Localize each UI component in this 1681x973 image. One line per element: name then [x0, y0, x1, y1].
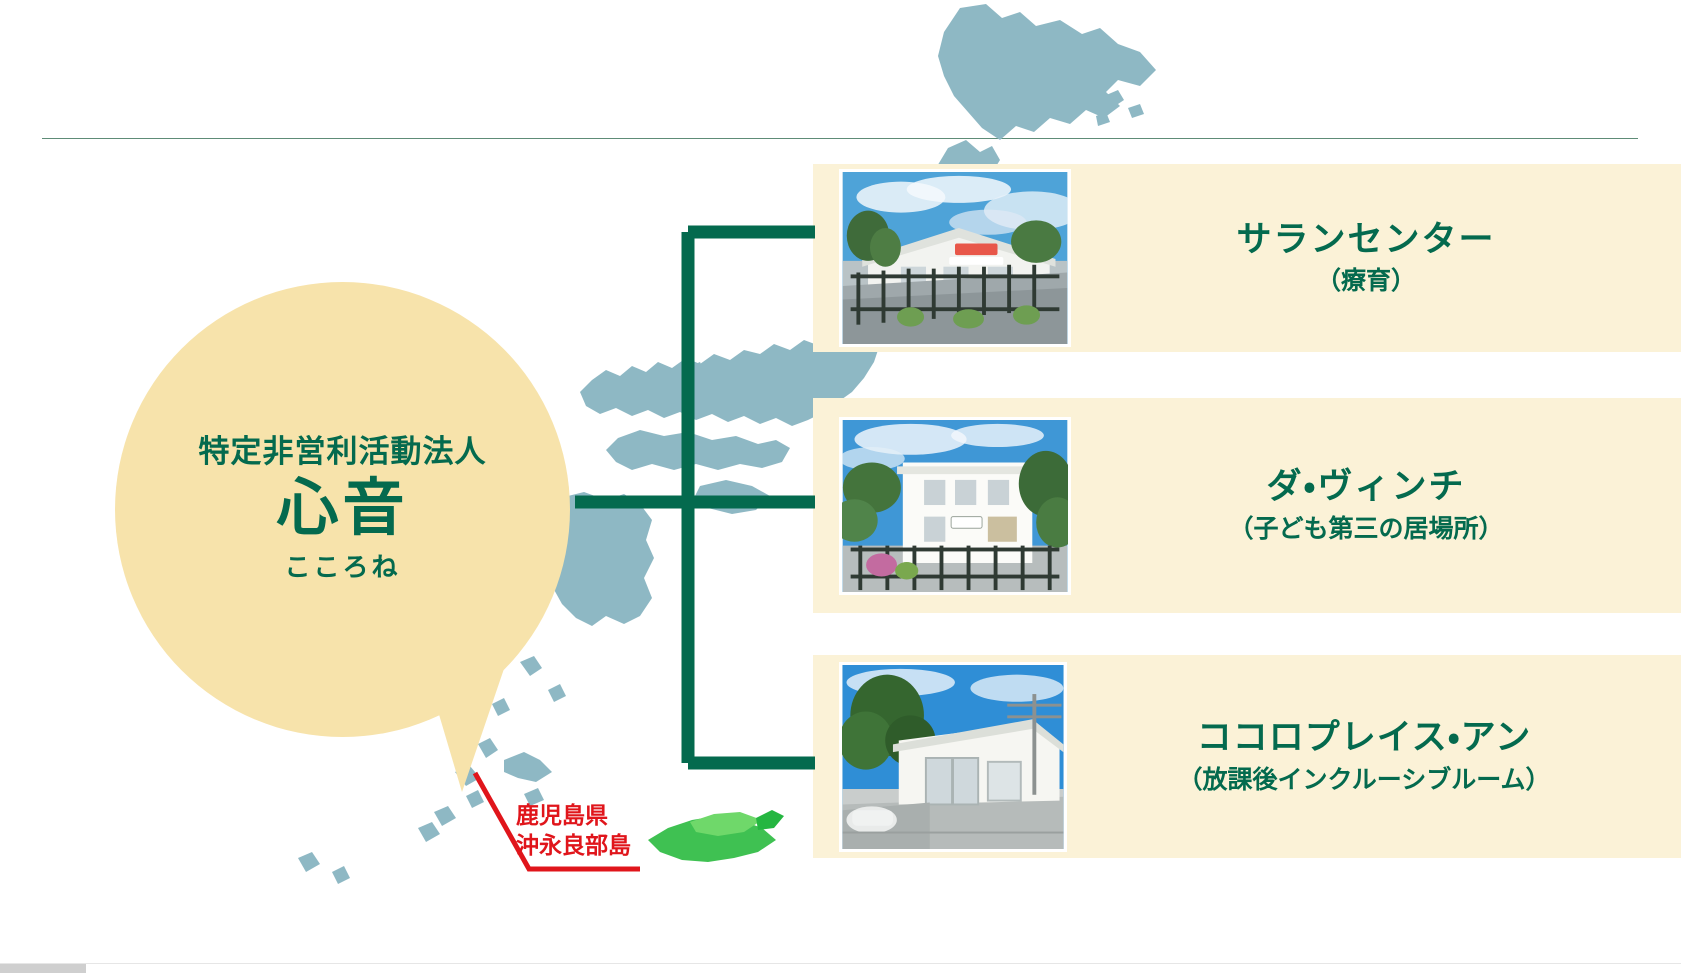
- facility-text: サランセンター （療育）: [1071, 220, 1681, 296]
- bracket-connector-icon: [575, 225, 825, 770]
- facility-photo: [839, 169, 1071, 347]
- infographic-canvas: 特定非営利活動法人 心音 こころね 鹿児島県 沖永良部島: [0, 0, 1681, 973]
- facility-photo: [839, 417, 1071, 595]
- speech-bubble-icon: 特定非営利活動法人 心音 こころね: [115, 282, 570, 737]
- org-name: 心音: [276, 473, 408, 544]
- facility-text: ダ・ヴィンチ （子ども第三の居場所）: [1071, 467, 1681, 543]
- facility-name: ダ・ヴィンチ: [1081, 467, 1651, 507]
- scrollbar-thumb[interactable]: [0, 964, 86, 973]
- facility-name: サランセンター: [1081, 220, 1651, 260]
- location-note-line2: 沖永良部島: [516, 830, 631, 860]
- facility-card-saran-center[interactable]: サランセンター （療育）: [813, 164, 1681, 352]
- location-note: 鹿児島県 沖永良部島: [516, 800, 631, 861]
- org-kana: こころね: [284, 547, 400, 584]
- facility-subtitle: （子ども第三の居場所）: [1081, 514, 1651, 544]
- facility-photo: [839, 662, 1067, 852]
- facility-subtitle: （療育）: [1081, 266, 1651, 296]
- location-note-line1: 鹿児島県: [516, 800, 631, 830]
- facility-text: ココロプレイス・アン （放課後インクルーシブルーム）: [1067, 718, 1681, 794]
- facility-card-cocoro-place-an[interactable]: ココロプレイス・アン （放課後インクルーシブルーム）: [813, 655, 1681, 858]
- page-bottom-edge: [0, 963, 1681, 973]
- facility-name: ココロプレイス・アン: [1077, 718, 1651, 758]
- facility-subtitle: （放課後インクルーシブルーム）: [1077, 765, 1651, 795]
- facility-card-da-vinci[interactable]: ダ・ヴィンチ （子ども第三の居場所）: [813, 398, 1681, 613]
- org-prefix: 特定非営利活動法人: [199, 435, 487, 469]
